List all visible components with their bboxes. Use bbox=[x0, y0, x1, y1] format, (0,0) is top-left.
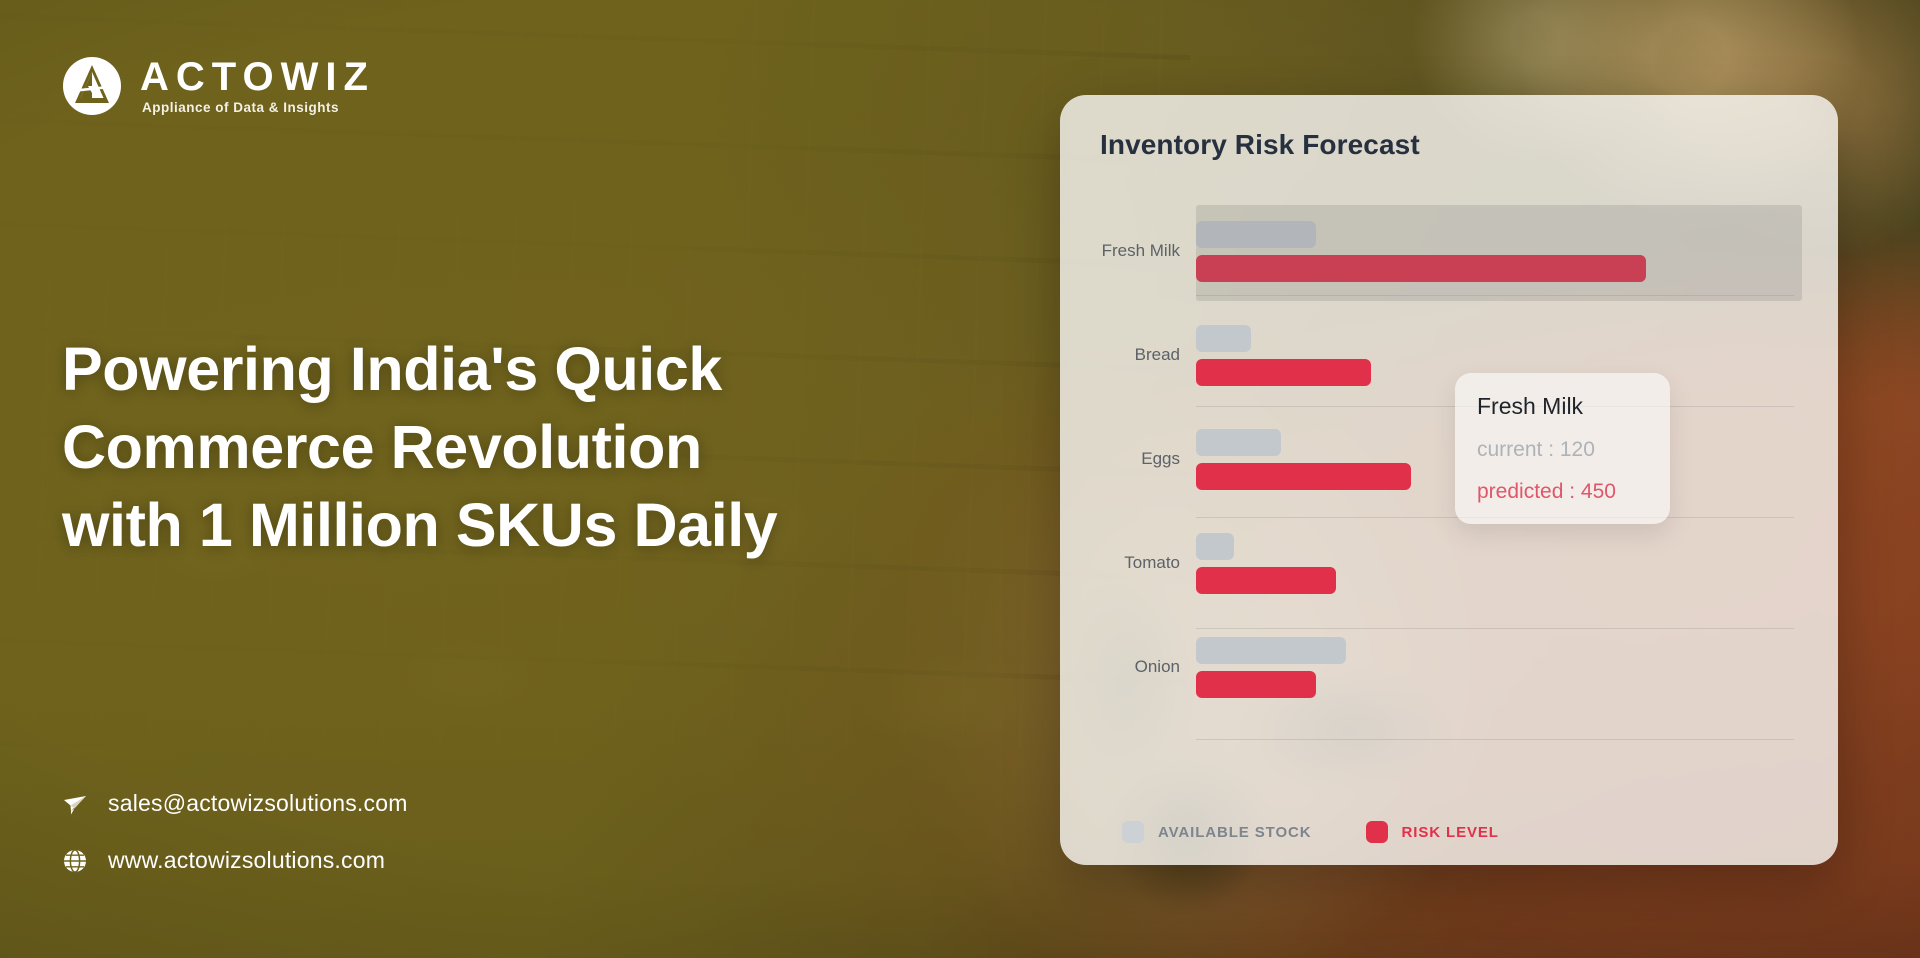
inventory-risk-forecast-card: Inventory Risk Forecast Fresh Milk Bread bbox=[1060, 95, 1838, 865]
legend-label-risk: RISK LEVEL bbox=[1402, 824, 1499, 841]
paper-plane-icon bbox=[62, 791, 88, 817]
bar-chart: Fresh Milk Bread Eggs bbox=[1100, 185, 1798, 815]
contact-website-row[interactable]: www.actowizsolutions.com bbox=[62, 847, 408, 874]
chart-legend: AVAILABLE STOCK RISK LEVEL bbox=[1100, 815, 1798, 843]
tooltip-predicted-value: predicted : 450 bbox=[1477, 480, 1648, 504]
page-title: Powering India's Quick Commerce Revoluti… bbox=[62, 330, 942, 564]
headline-line-2: Commerce Revolution bbox=[62, 408, 942, 486]
available-stock-bar[interactable] bbox=[1196, 533, 1234, 560]
globe-icon bbox=[62, 848, 88, 874]
legend-item-risk-level[interactable]: RISK LEVEL bbox=[1366, 821, 1499, 843]
contact-email: sales@actowizsolutions.com bbox=[108, 790, 408, 817]
headline-line-3: with 1 Million SKUs Daily bbox=[62, 486, 942, 564]
available-stock-bar[interactable] bbox=[1196, 221, 1316, 248]
bar-row[interactable]: Onion bbox=[1100, 615, 1798, 719]
bar-row[interactable]: Bread bbox=[1100, 303, 1798, 407]
bar-category-label: Fresh Milk bbox=[1100, 241, 1196, 261]
risk-level-bar[interactable] bbox=[1196, 671, 1316, 698]
bar-row[interactable]: Tomato bbox=[1100, 511, 1798, 615]
risk-level-bar[interactable] bbox=[1196, 463, 1411, 490]
tooltip-current-value: current : 120 bbox=[1477, 438, 1648, 462]
legend-label-stock: AVAILABLE STOCK bbox=[1158, 824, 1312, 841]
bar-category-label: Onion bbox=[1100, 657, 1196, 677]
legend-swatch-stock-icon bbox=[1122, 821, 1144, 843]
contact-email-row[interactable]: sales@actowizsolutions.com bbox=[62, 790, 408, 817]
bar-row[interactable]: Eggs bbox=[1100, 407, 1798, 511]
brand-logo[interactable]: ACTOWIZ Appliance of Data & Insights bbox=[62, 56, 375, 116]
tooltip-title: Fresh Milk bbox=[1477, 393, 1648, 420]
brand-name: ACTOWIZ bbox=[140, 57, 375, 98]
chart-tooltip: Fresh Milk current : 120 predicted : 450 bbox=[1455, 373, 1670, 524]
legend-swatch-risk-icon bbox=[1366, 821, 1388, 843]
risk-level-bar[interactable] bbox=[1196, 567, 1336, 594]
bar-category-label: Tomato bbox=[1100, 553, 1196, 573]
risk-level-bar[interactable] bbox=[1196, 359, 1371, 386]
hero-banner: ACTOWIZ Appliance of Data & Insights Pow… bbox=[0, 0, 1920, 958]
available-stock-bar[interactable] bbox=[1196, 429, 1281, 456]
bar-group bbox=[1196, 637, 1798, 698]
risk-level-bar[interactable] bbox=[1196, 255, 1646, 282]
contact-website: www.actowizsolutions.com bbox=[108, 847, 385, 874]
available-stock-bar[interactable] bbox=[1196, 325, 1251, 352]
available-stock-bar[interactable] bbox=[1196, 637, 1346, 664]
card-title: Inventory Risk Forecast bbox=[1100, 129, 1798, 161]
contact-block: sales@actowizsolutions.com www.actowizso… bbox=[62, 790, 408, 874]
headline-line-1: Powering India's Quick bbox=[62, 330, 942, 408]
bar-group bbox=[1196, 221, 1798, 282]
bar-row[interactable]: Fresh Milk bbox=[1100, 199, 1798, 303]
actowiz-triangle-circle-logo-icon bbox=[62, 56, 122, 116]
bar-category-label: Bread bbox=[1100, 345, 1196, 365]
bar-group bbox=[1196, 533, 1798, 594]
bar-category-label: Eggs bbox=[1100, 449, 1196, 469]
legend-item-available-stock[interactable]: AVAILABLE STOCK bbox=[1122, 821, 1312, 843]
brand-tagline: Appliance of Data & Insights bbox=[140, 100, 375, 115]
